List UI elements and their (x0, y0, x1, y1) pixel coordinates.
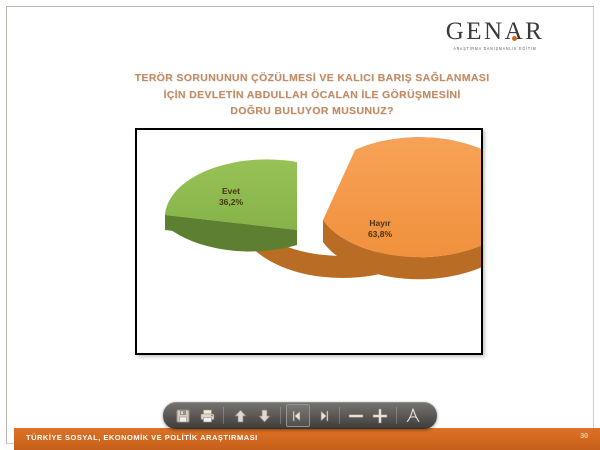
logo-word-text: GENAR (446, 18, 545, 45)
save-icon (176, 409, 190, 423)
pdf-viewer-toolbar[interactable] (163, 402, 437, 429)
scroll-down-button[interactable] (253, 405, 275, 426)
page-number: 30 (580, 433, 588, 440)
pie-label-hayir: Hayır 63,8% (345, 218, 415, 240)
print-icon (200, 409, 215, 423)
acrobat-button[interactable] (402, 405, 424, 426)
pie-chart-svg (137, 130, 481, 353)
next-page-button[interactable] (312, 405, 334, 426)
toolbar-separator-1 (223, 407, 224, 424)
adobe-acrobat-icon (406, 408, 420, 423)
genar-logo: GENAR ARAŞTIRMA DANIŞMANLIK EĞİTİM (415, 19, 575, 51)
toolbar-separator-3 (339, 407, 340, 424)
zoom-in-icon (372, 408, 388, 424)
zoom-out-icon (348, 410, 364, 422)
next-page-icon (316, 410, 330, 422)
pie-chart (137, 130, 481, 353)
pie-label-evet-value: 36,2% (199, 197, 263, 208)
footer-banner: TÜRKİYE SOSYAL, EKONOMİK VE POLİTİK ARAŞ… (14, 428, 600, 450)
document-page: GENAR ARAŞTIRMA DANIŞMANLIK EĞİTİM TERÖR… (6, 6, 594, 444)
toolbar-separator-4 (396, 407, 397, 424)
pie-label-hayir-name: Hayır (345, 218, 415, 229)
logo-subtitle: ARAŞTIRMA DANIŞMANLIK EĞİTİM (415, 47, 575, 52)
toolbar-separator-2 (280, 407, 281, 424)
scroll-up-icon (234, 409, 247, 423)
previous-page-button[interactable] (286, 404, 310, 427)
page-title: TERÖR SORUNUNUN ÇÖZÜLMESİ VE KALICI BARI… (62, 70, 562, 120)
scroll-up-button[interactable] (229, 405, 251, 426)
page-title-line-1: TERÖR SORUNUNUN ÇÖZÜLMESİ VE KALICI BARI… (62, 70, 562, 87)
pie-label-evet: Evet 36,2% (199, 186, 263, 208)
logo-wordmark: GENAR (446, 19, 545, 44)
footer-banner-text: TÜRKİYE SOSYAL, EKONOMİK VE POLİTİK ARAŞ… (26, 433, 258, 442)
page-title-line-2: İÇİN DEVLETİN ABDULLAH ÖCALAN İLE GÖRÜŞM… (62, 87, 562, 104)
zoom-in-button[interactable] (369, 405, 391, 426)
pie-label-hayir-value: 63,8% (345, 229, 415, 240)
page-title-line-3: DOĞRU BULUYOR MUSUNUZ? (62, 103, 562, 120)
previous-page-icon (291, 410, 305, 422)
save-button[interactable] (172, 405, 194, 426)
pie-label-evet-name: Evet (199, 186, 263, 197)
scroll-down-icon (258, 409, 271, 423)
chart-frame: Evet 36,2% Hayır 63,8% (135, 128, 483, 355)
print-button[interactable] (196, 405, 218, 426)
zoom-out-button[interactable] (345, 405, 367, 426)
slide-viewer: GENAR ARAŞTIRMA DANIŞMANLIK EĞİTİM TERÖR… (0, 0, 600, 450)
